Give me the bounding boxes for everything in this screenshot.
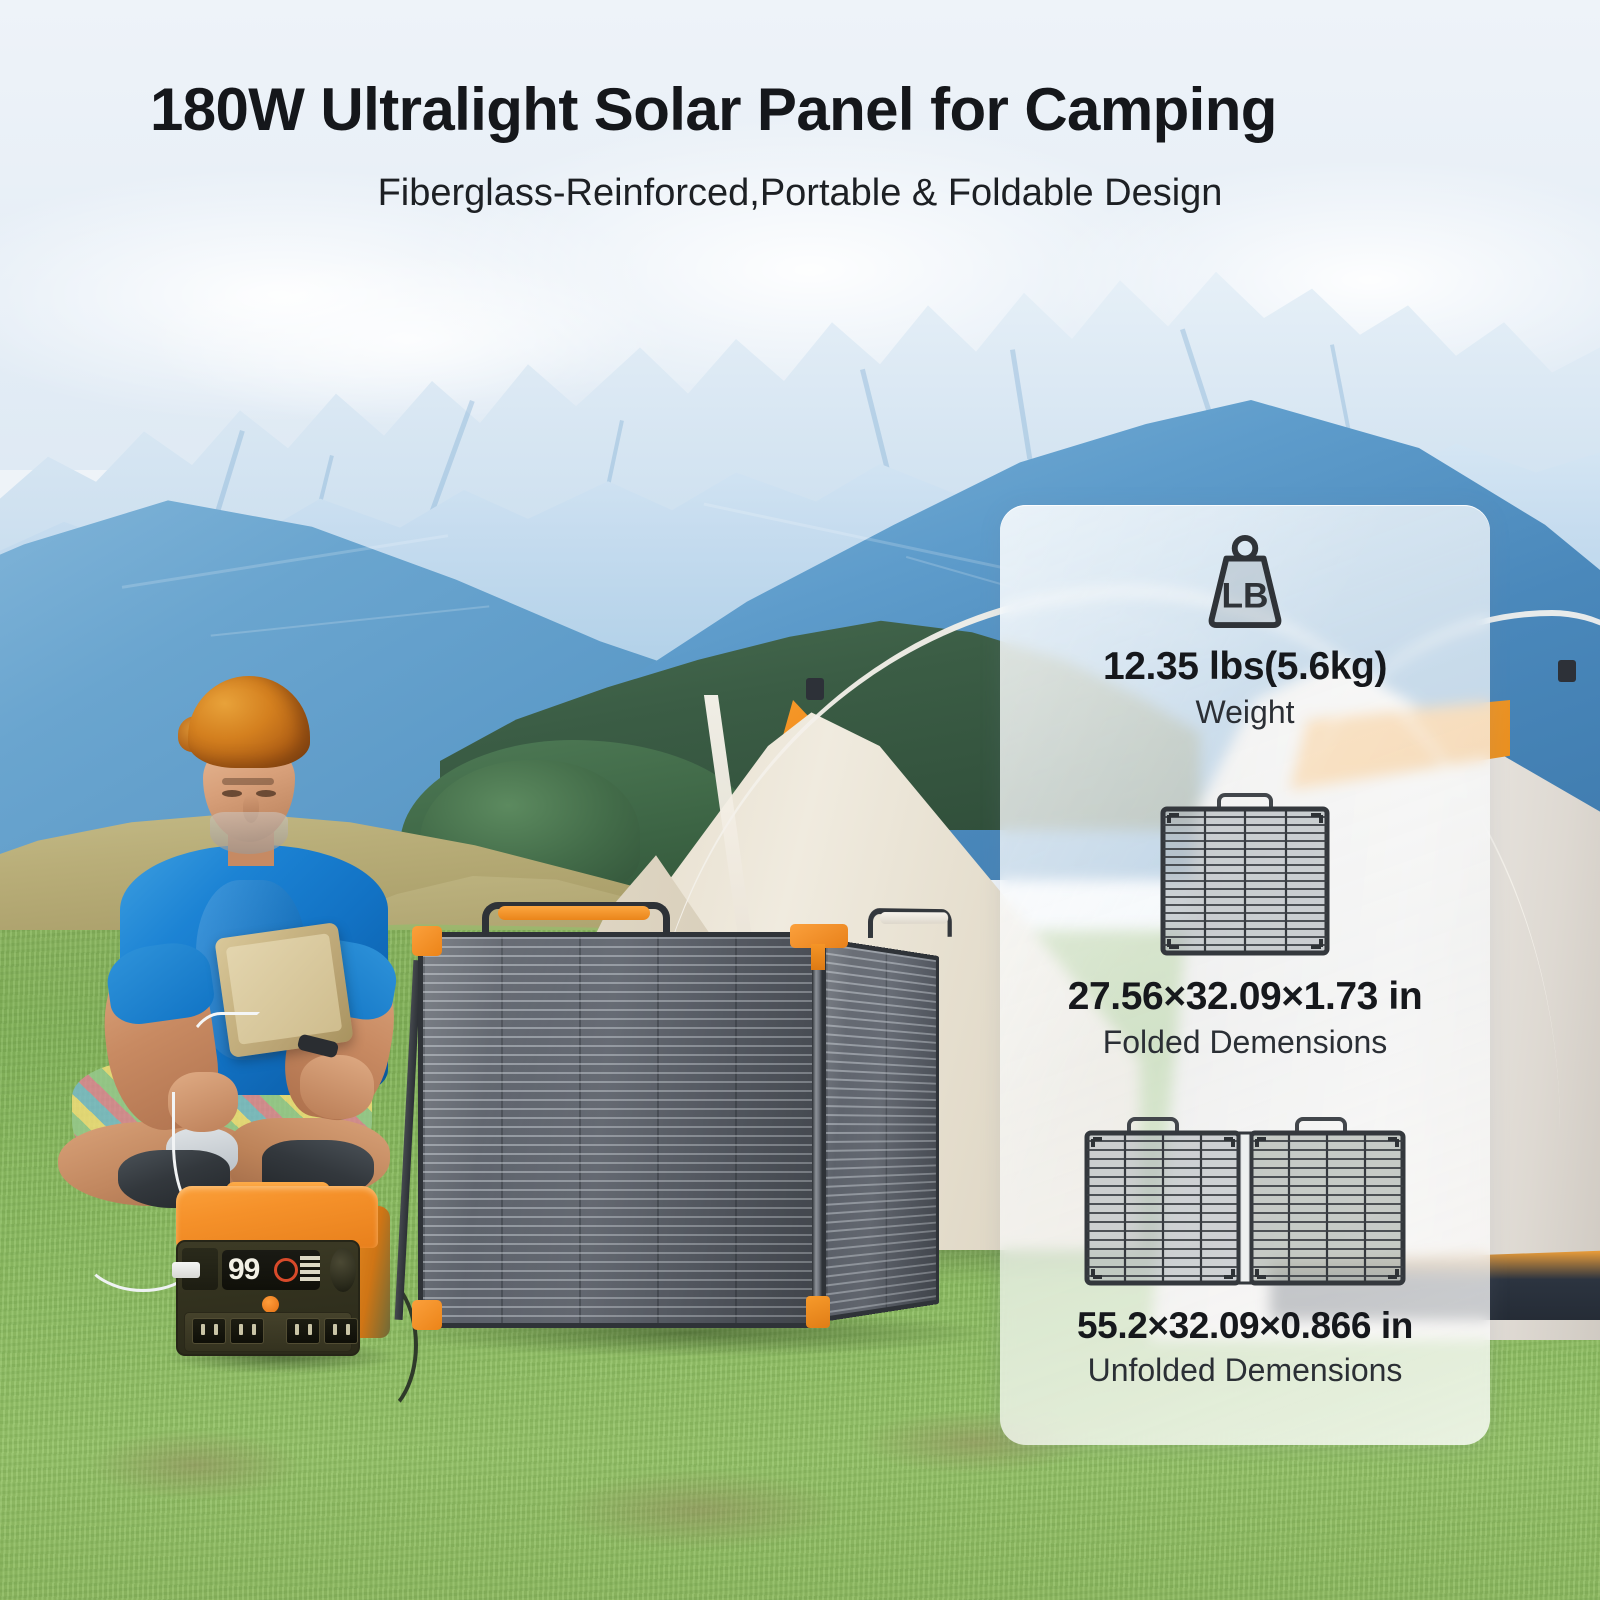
usb-cable-plug — [172, 1262, 200, 1278]
page-title: 180W Ultralight Solar Panel for Camping — [150, 78, 1450, 141]
solar-panel-hinge-stem — [811, 944, 825, 970]
stat-weight-value: 12.35 lbs(5.6kg) — [1103, 645, 1387, 689]
stat-folded-value: 27.56×32.09×1.73 in — [1068, 975, 1423, 1019]
solar-panel-hinge-bottom-bracket — [806, 1296, 830, 1328]
stat-weight-label: Weight — [1195, 694, 1294, 731]
display-charge-ring — [274, 1258, 298, 1282]
solar-panel-hinge — [812, 960, 822, 1300]
product-marketing-image: 99 180W Ultralight Solar Panel for Campi… — [0, 0, 1600, 1600]
eyebrows — [222, 778, 274, 785]
unfolded-solar-panel-icon — [1079, 1105, 1411, 1291]
solar-panel-corner-bracket — [412, 1300, 442, 1330]
ac-outlet — [286, 1318, 320, 1344]
folded-solar-panel-icon — [1147, 781, 1343, 961]
solar-panel-handle-grip — [498, 906, 650, 920]
hand-right — [300, 1055, 374, 1119]
tent-pole-clip — [806, 678, 824, 700]
power-station-top — [176, 1186, 378, 1248]
ac-outlet — [230, 1318, 264, 1344]
beard — [210, 812, 288, 854]
display-percent-value: 99 — [228, 1252, 272, 1288]
stat-unfolded-value: 55.2×32.09×0.866 in — [1077, 1305, 1413, 1347]
solar-panel-corner-bracket — [412, 926, 442, 956]
svg-text:LB: LB — [1222, 576, 1269, 615]
ac-outlet — [192, 1318, 226, 1344]
solar-panel-wing-left — [418, 932, 818, 1328]
dirt-patch — [560, 1470, 840, 1550]
eye-right — [256, 790, 276, 797]
spec-info-card: LB 12.35 lbs(5.6kg) Weight — [1000, 505, 1490, 1445]
stat-folded-label: Folded Demensions — [1103, 1024, 1388, 1061]
stat-unfolded-label: Unfolded Demensions — [1088, 1352, 1403, 1389]
display-bars — [300, 1256, 320, 1284]
stat-weight: LB 12.35 lbs(5.6kg) Weight — [1018, 527, 1472, 731]
solar-panel-handle-grip — [880, 912, 948, 924]
power-button — [262, 1296, 279, 1313]
page-subtitle: Fiberglass-Reinforced,Portable & Foldabl… — [150, 172, 1450, 216]
eye-left — [222, 790, 242, 797]
tent-pole-clip — [1558, 660, 1576, 682]
stat-unfolded: 55.2×32.09×0.866 in Unfolded Demensions — [1018, 1105, 1472, 1389]
dirt-patch — [90, 1430, 300, 1500]
solar-panel-wing-right — [822, 938, 939, 1322]
stat-folded: 27.56×32.09×1.73 in Folded Demensions — [1018, 781, 1472, 1061]
weight-lb-icon: LB — [1196, 535, 1294, 631]
